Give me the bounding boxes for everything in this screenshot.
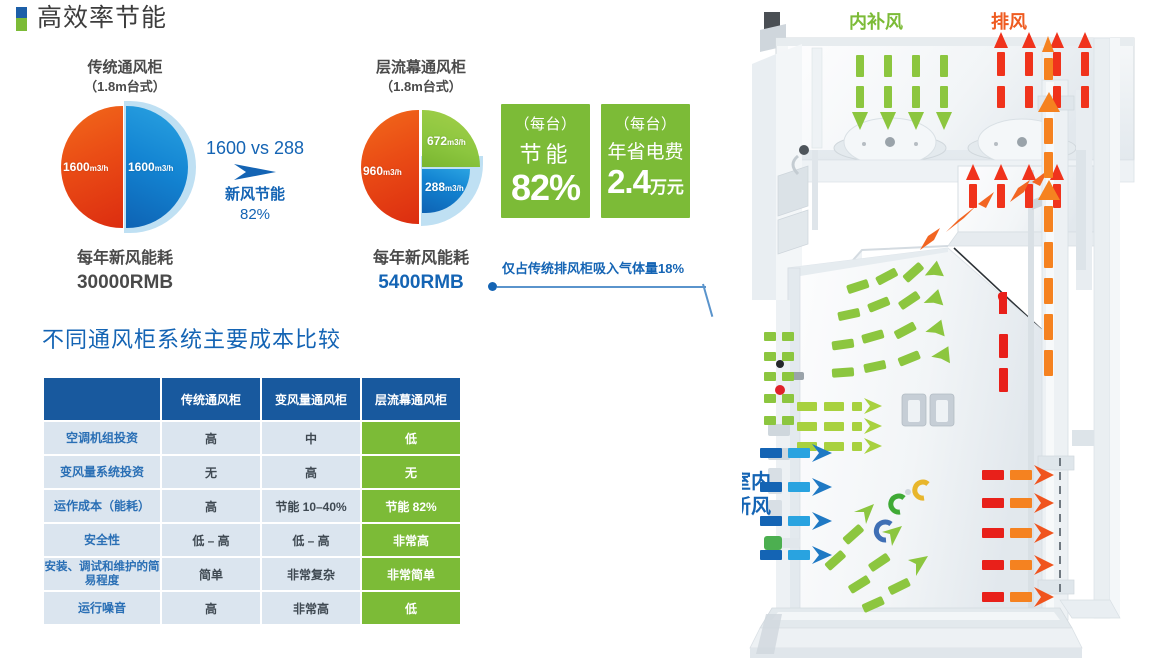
- pie-left-label-makeup: 1600m3/h: [128, 160, 173, 174]
- badge-0-big-value: 82%: [511, 167, 580, 208]
- badge-1-top: （每台）: [601, 113, 690, 134]
- table-row: 运作成本（能耗） 高 节能 10–40% 节能 82%: [44, 490, 460, 522]
- comparison-sub: 新风节能 82%: [196, 185, 314, 226]
- pie-chart-right: 960m3/h 672m3/h 288m3/h: [345, 104, 497, 230]
- table-header-laminar: 层流幕通风柜: [362, 378, 460, 420]
- airflow-arrows-overlay: [742, 0, 1149, 660]
- left-panel: 传统通风柜 （1.8m台式） 1600m3/h 1600m3/h 每年新风能耗 …: [0, 0, 760, 660]
- cell-traditional: 无: [162, 456, 260, 488]
- badge-0-mid: 节能: [501, 137, 590, 169]
- chart-right-footer-label: 每年新风能耗: [373, 250, 469, 267]
- cell-traditional: 高: [162, 592, 260, 624]
- table-row: 变风量系统投资 无 高 无: [44, 456, 460, 488]
- pie-right-label-recirc: 672m3/h: [427, 134, 466, 148]
- cell-traditional: 高: [162, 422, 260, 454]
- chart-left-footer-value: 30000RMB: [20, 270, 230, 297]
- row-label: 运行噪音: [44, 592, 160, 624]
- chart-right-title: 层流幕通风柜: [376, 59, 466, 76]
- chart-right-subtitle: （1.8m台式）: [316, 78, 526, 96]
- badge-0-top: （每台）: [501, 113, 590, 134]
- label-indoor-fresh-air-line1: 室内: [742, 470, 792, 495]
- cell-laminar: 低: [362, 422, 460, 454]
- red-exhaust-rows: [982, 465, 1054, 607]
- cell-traditional: 低 – 高: [162, 524, 260, 556]
- comparison-arrow-block: 1600 vs 288 新风节能 82%: [196, 138, 314, 226]
- green-lower-swirl-arrows: [824, 504, 928, 613]
- cell-laminar: 低: [362, 592, 460, 624]
- callout-intake-share: 仅占传统排风柜吸入气体量18%: [488, 258, 728, 318]
- chart-left-caption: 传统通风柜 （1.8m台式）: [20, 58, 230, 96]
- cell-vav: 中: [262, 422, 360, 454]
- table-header-row: 传统通风柜 变风量通风柜 层流幕通风柜: [44, 378, 460, 420]
- table-header-traditional: 传统通风柜: [162, 378, 260, 420]
- table-row: 安全性 低 – 高 低 – 高 非常高: [44, 524, 460, 556]
- arrow-right-icon: [232, 161, 278, 183]
- table-header-vav: 变风量通风柜: [262, 378, 360, 420]
- comparison-sub-value: 82%: [196, 205, 314, 225]
- table-row: 运行噪音 高 非常高 低: [44, 592, 460, 624]
- green-left-intake-dashes: [764, 332, 794, 425]
- row-label: 安全性: [44, 524, 160, 556]
- orange-diagonal-arrows: [920, 170, 1048, 250]
- table-section-title: 不同通风柜系统主要成本比较: [42, 322, 341, 354]
- value: 288: [425, 180, 445, 194]
- callout-dot-icon: [488, 282, 497, 291]
- unit: m3/h: [90, 164, 109, 173]
- pie-right-label-exhaust: 960m3/h: [363, 164, 402, 178]
- value: 672: [427, 134, 447, 148]
- unit: m3/h: [155, 164, 174, 173]
- red-upflow-arrows-top: [994, 32, 1092, 108]
- callout-leader-line: [497, 286, 706, 288]
- badge-1-big-value: 2.4: [607, 163, 650, 200]
- cell-vav: 节能 10–40%: [262, 490, 360, 522]
- row-label: 运作成本（能耗）: [44, 490, 160, 522]
- red-back-wall-dashes: [998, 292, 1008, 392]
- badge-0-big: 82%: [501, 170, 590, 206]
- cell-laminar: 非常高: [362, 524, 460, 556]
- green-laminar-rows: [797, 398, 882, 454]
- callout-text: 仅占传统排风柜吸入气体量18%: [502, 258, 684, 277]
- chart-left-footer: 每年新风能耗 30000RMB: [20, 248, 230, 297]
- row-label: 空调机组投资: [44, 422, 160, 454]
- cell-vav: 低 – 高: [262, 524, 360, 556]
- green-swirl-arrows-upper: [831, 261, 955, 378]
- callout-leader-line-angled: [702, 284, 713, 317]
- chart-right-caption: 层流幕通风柜 （1.8m台式）: [316, 58, 526, 96]
- chart-left-footer-label: 每年新风能耗: [77, 250, 173, 267]
- badge-1-big-suffix: 万元: [650, 178, 684, 197]
- pie-chart-left: 1600m3/h 1600m3/h: [49, 104, 201, 230]
- comparison-sub-label: 新风节能: [225, 186, 285, 203]
- badge-1-big: 2.4万元: [601, 165, 690, 198]
- cell-traditional: 高: [162, 490, 260, 522]
- pie-left-label-exhaust: 1600m3/h: [63, 160, 108, 174]
- label-internal-makeup-air: 内补风: [849, 8, 903, 34]
- row-label: 安装、调试和维护的简易程度: [44, 558, 160, 590]
- row-label: 变风量系统投资: [44, 456, 160, 488]
- pie-right-label-fresh: 288m3/h: [425, 180, 464, 194]
- comparison-headline: 1600 vs 288: [196, 138, 314, 159]
- badge-1-mid: 年省电费: [601, 137, 690, 164]
- badge-energy-saving: （每台） 节能 82%: [501, 104, 590, 218]
- label-indoor-fresh-air-line2: 新风: [742, 495, 792, 520]
- cell-laminar: 节能 82%: [362, 490, 460, 522]
- label-exhaust-air: 排风: [991, 8, 1027, 34]
- cell-laminar: 非常简单: [362, 558, 460, 590]
- cell-vav: 非常复杂: [262, 558, 360, 590]
- chart-left-title: 传统通风柜: [87, 59, 162, 76]
- value: 1600: [128, 160, 155, 174]
- table-row: 空调机组投资 高 中 低: [44, 422, 460, 454]
- badge-annual-saving: （每台） 年省电费 2.4万元: [601, 104, 690, 218]
- cell-vav: 非常高: [262, 592, 360, 624]
- cell-traditional: 简单: [162, 558, 260, 590]
- label-indoor-fresh-air: 室内 新风: [742, 470, 792, 520]
- value: 960: [363, 164, 383, 178]
- cost-comparison-table: 传统通风柜 变风量通风柜 层流幕通风柜 空调机组投资 高 中 低 变风量系统投资…: [42, 376, 462, 626]
- fume-hood-airflow-diagram: 内补风 排风 室内 新风: [742, 0, 1149, 660]
- cell-vav: 高: [262, 456, 360, 488]
- cell-laminar: 无: [362, 456, 460, 488]
- unit: m3/h: [383, 168, 402, 177]
- value: 1600: [63, 160, 90, 174]
- unit: m3/h: [447, 138, 466, 147]
- unit: m3/h: [445, 184, 464, 193]
- table-header-corner: [44, 378, 160, 420]
- green-downflow-arrows: [852, 55, 952, 130]
- table-row: 安装、调试和维护的简易程度 简单 非常复杂 非常简单: [44, 558, 460, 590]
- chart-left-subtitle: （1.8m台式）: [20, 78, 230, 96]
